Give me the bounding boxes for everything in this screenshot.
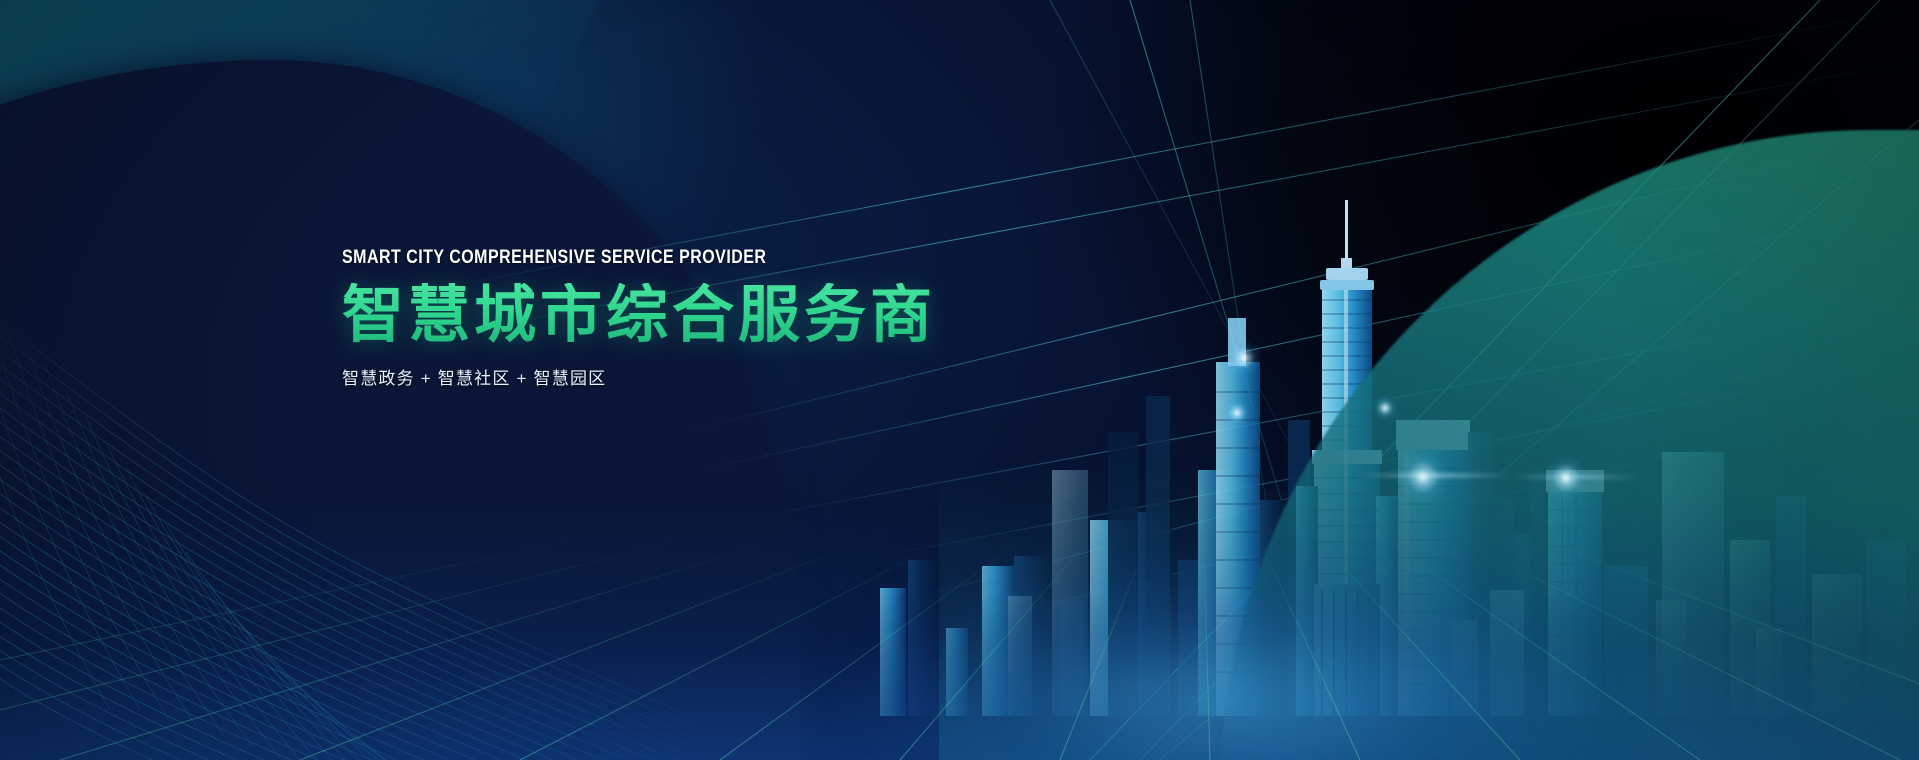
hero-headline: 智慧城市综合服务商 xyxy=(342,283,1042,348)
hero-copy: SMART CITY COMPREHENSIVE SERVICE PROVIDE… xyxy=(342,248,1042,389)
hero-subline: 智慧政务 + 智慧社区 + 智慧园区 xyxy=(342,364,1042,389)
smart-city-hero-banner: SMART CITY COMPREHENSIVE SERVICE PROVIDE… xyxy=(0,0,1919,760)
hero-eyebrow: SMART CITY COMPREHENSIVE SERVICE PROVIDE… xyxy=(342,248,930,267)
